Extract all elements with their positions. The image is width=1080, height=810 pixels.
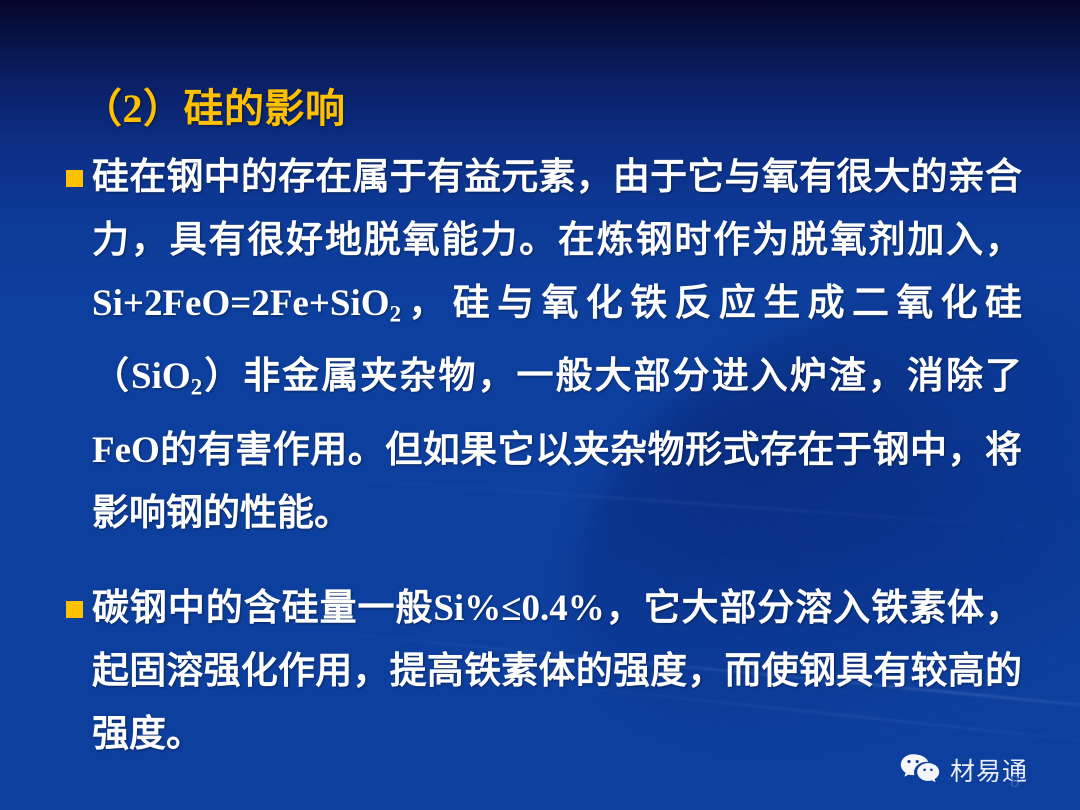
bullet-square-icon [66,170,83,187]
slide-content: （2）硅的影响 硅在钢中的存在属于有益元素，由于它与氧有很大的亲合力，具有很好地… [0,0,1080,810]
slide-title: （2）硅的影响 [82,76,346,134]
paragraph-2-text: 碳钢中的含硅量一般Si%≤0.4%，它大部分溶入铁素体，起固溶强化作用，提高铁素… [92,588,1022,755]
presentation-slide: （2）硅的影响 硅在钢中的存在属于有益元素，由于它与氧有很大的亲合力，具有很好地… [0,0,1080,810]
paragraph-1-text: 硅在钢中的存在属于有益元素，由于它与氧有很大的亲合力，具有很好地脱氧能力。在炼钢… [92,157,1022,534]
page-number: 8 [1010,772,1019,792]
bullet-square-icon [66,601,83,618]
slide-body: 硅在钢中的存在属于有益元素，由于它与氧有很大的亲合力，具有很好地脱氧能力。在炼钢… [62,146,1022,778]
body-paragraph-1: 硅在钢中的存在属于有益元素，由于它与氧有很大的亲合力，具有很好地脱氧能力。在炼钢… [62,146,1022,545]
wechat-icon [900,753,940,787]
watermark: 材易通 [900,752,1028,788]
body-paragraph-2: 碳钢中的含硅量一般Si%≤0.4%，它大部分溶入铁素体，起固溶强化作用，提高铁素… [62,577,1022,766]
